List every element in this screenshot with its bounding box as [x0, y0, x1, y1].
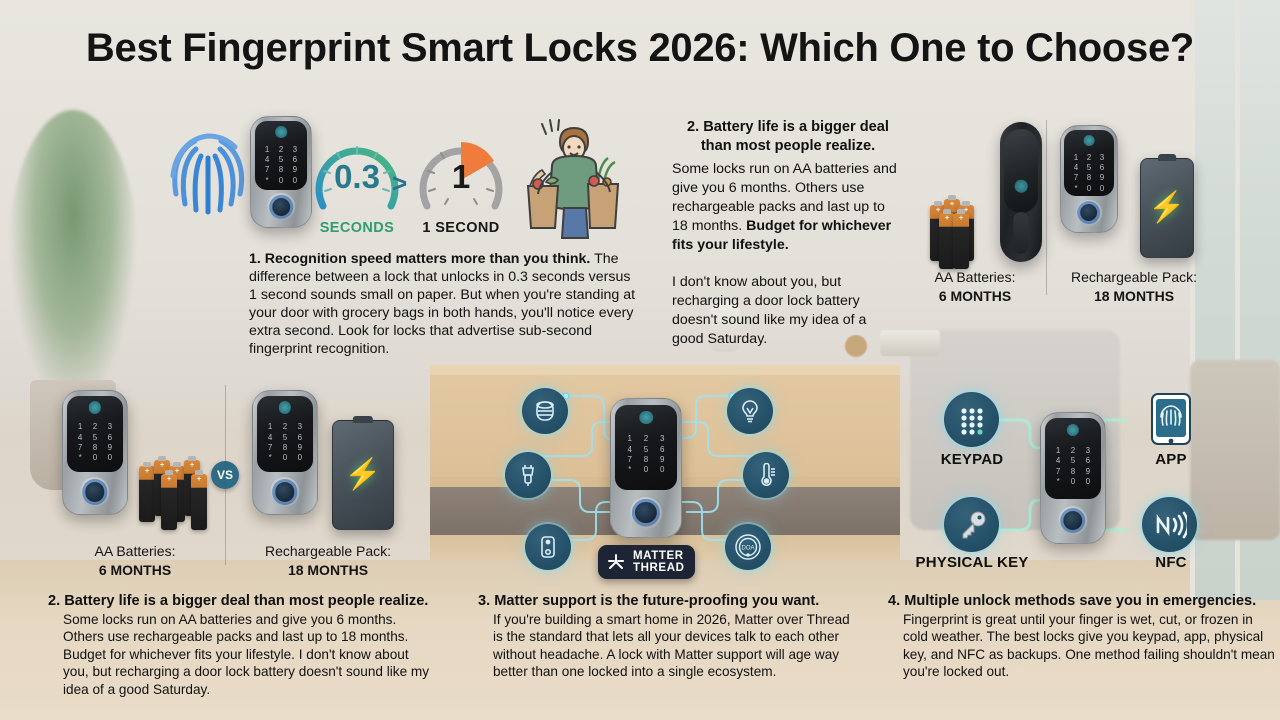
matter-badge-text: MATTER THREAD [633, 550, 685, 574]
keypad-key: 0 [278, 454, 291, 462]
keypad-key: 7 [1070, 174, 1081, 182]
keypad-key: 1 [261, 146, 273, 154]
keypad-key: 9 [289, 166, 301, 174]
keypad-key: 0 [1081, 478, 1094, 486]
keypad-key: 4 [261, 156, 273, 164]
section-3-heading: 3. Matter support is the future-proofing… [478, 592, 850, 611]
keypad-key: 4 [1070, 164, 1081, 172]
keypad-key: 5 [1083, 164, 1094, 172]
keypad-key: 0 [1096, 185, 1107, 193]
section-3-body: If you're building a smart home in 2026,… [478, 611, 850, 681]
smart-lock-device-matter: 1 2 3 4 5 6 7 8 9 * 0 0 [610, 398, 682, 538]
lock-fingerprint-sensor-top [639, 411, 653, 425]
keypad-key: 8 [88, 444, 101, 452]
lightning-bolt-icon: ⚡ [344, 460, 381, 490]
keypad-key: 0 [275, 177, 287, 185]
aa-battery-caption-bottom: AA Batteries: 6 MONTHS [62, 542, 208, 580]
smart-speaker-icon [522, 388, 568, 434]
keypad-key: 4 [74, 434, 87, 442]
keypad-key: 0 [1066, 478, 1079, 486]
section-2-top-paragraph-2: I don't know about you, but recharging a… [672, 273, 896, 349]
keypad-key: 9 [293, 444, 306, 452]
keypad-key: 6 [655, 446, 669, 454]
rechargeable-pack-top: ⚡ [1140, 158, 1194, 258]
keypad-key: 2 [278, 423, 291, 431]
speed-gauge-fast: 0.3 SECONDS [311, 134, 403, 226]
aa-batteries-group-bottom: + + + + + + [139, 458, 211, 528]
lock-screen: 1 2 3 4 5 6 7 8 9 * 0 0 [615, 405, 677, 491]
phone-app-icon [1142, 390, 1200, 448]
keypad-key: 6 [1096, 164, 1107, 172]
section-4-body: Fingerprint is great until your finger i… [888, 611, 1276, 681]
lock-slim-glass-panel [1004, 129, 1038, 213]
top-right-divider [1046, 120, 1047, 295]
motion-sensor-icon [525, 524, 571, 570]
smart-lock-device-slim [1000, 122, 1042, 262]
section-1-text: 1. Recognition speed matters more than y… [249, 250, 641, 358]
smart-plug-icon [505, 452, 551, 498]
keypad-key: 8 [278, 444, 291, 452]
speed-gauge-slow: 1 1 SECOND [415, 134, 507, 226]
keypad-key: 5 [278, 434, 291, 442]
lock-fingerprint-sensor-top [89, 401, 101, 413]
lock-keypad: 1 2 3 4 5 6 7 8 9 * 0 0 [261, 146, 301, 178]
app-label: APP [1113, 451, 1229, 468]
grocery-shopper-illustration [516, 112, 634, 240]
smart-lock-device-aa-bottom: 1 2 3 4 5 6 7 8 9 * 0 0 [62, 390, 128, 515]
smart-lock-device-unlock: 1 2 3 4 5 6 7 8 9 * 0 0 [1040, 412, 1106, 544]
page-title: Best Fingerprint Smart Locks 2026: Which… [0, 26, 1280, 71]
comparator-icon: > [392, 168, 407, 199]
lock-keypad: 1 2 3 4 5 6 7 8 9 * 0 0 [1070, 154, 1107, 186]
keypad-key: 6 [1081, 457, 1094, 465]
lock-fingerprint-knob [1076, 200, 1102, 226]
matter-badge-line1: MATTER [633, 550, 685, 562]
keypad-key: 3 [293, 423, 306, 431]
keypad-key: 6 [289, 156, 301, 164]
gauge-slow-label: 1 SECOND [415, 220, 507, 236]
lock-fingerprint-sensor-top [279, 401, 291, 413]
keypad-key: 5 [275, 156, 287, 164]
keypad-key: 7 [261, 166, 273, 174]
keypad-key: 2 [1083, 154, 1094, 162]
infographic-canvas: Best Fingerprint Smart Locks 2026: Which… [0, 0, 1280, 720]
keypad-key: 1 [623, 435, 637, 443]
lock-fingerprint-sensor-top [1067, 424, 1079, 436]
keypad-key: 3 [103, 423, 116, 431]
keypad-key: 5 [639, 446, 653, 454]
pack-caption-top: Rechargeable Pack: 18 MONTHS [1048, 268, 1220, 306]
lock-screen: 1 2 3 4 5 6 7 8 9 * 0 0 [255, 121, 308, 189]
fingerprint-icon [165, 128, 251, 220]
lock-keypad: 1 2 3 4 5 6 7 8 9 * 0 0 [264, 423, 307, 455]
section-2-top-heading: 2. Battery life is a bigger deal than mo… [672, 118, 904, 156]
section-2-top-paragraph-1: Some locks run on AA batteries and give … [672, 160, 900, 255]
keypad-key: 6 [293, 434, 306, 442]
keypad-key: 8 [1066, 468, 1079, 476]
section-4-heading: 4. Multiple unlock methods save you in e… [888, 592, 1276, 611]
keypad-key: 2 [275, 146, 287, 154]
aa-caption-line1: AA Batteries: [95, 543, 176, 559]
keypad-key: 9 [655, 456, 669, 464]
pack-caption-bottom: Rechargeable Pack: 18 MONTHS [242, 542, 414, 580]
keypad-key: 3 [1081, 447, 1094, 455]
pack-caption-line1: Rechargeable Pack: [1071, 269, 1197, 285]
matter-badge-line2: THREAD [633, 562, 685, 574]
light-bulb-icon [727, 388, 773, 434]
keypad-key: 2 [639, 435, 653, 443]
section-2-bottom-text: 2. Battery life is a bigger deal than mo… [48, 592, 438, 698]
lock-fingerprint-knob [630, 497, 662, 529]
lock-keypad: 1 2 3 4 5 6 7 8 9 * 0 0 [1052, 447, 1095, 479]
smart-dial-icon: DOA [725, 524, 771, 570]
keypad-key: * [74, 454, 87, 462]
section-4-text: 4. Multiple unlock methods save you in e… [888, 592, 1276, 681]
section-2-heading-line1: 2. Battery life is a bigger deal [687, 119, 889, 135]
keypad-key: * [1052, 478, 1065, 486]
gauge-fast-label: SECONDS [311, 220, 403, 236]
keypad-key: 1 [74, 423, 87, 431]
keypad-key: 0 [103, 454, 116, 462]
keypad-key: 3 [1096, 154, 1107, 162]
keypad-key: 4 [623, 446, 637, 454]
keypad-label: KEYPAD [914, 451, 1030, 468]
pack-caption-line1: Rechargeable Pack: [265, 543, 391, 559]
lock-screen: 1 2 3 4 5 6 7 8 9 * 0 0 [67, 396, 123, 472]
aa-batteries-group-top: + + + + + [930, 195, 1000, 265]
keypad-key: 6 [103, 434, 116, 442]
keypad-key: * [264, 454, 277, 462]
nfc-label: NFC [1113, 554, 1229, 571]
keypad-key: 1 [264, 423, 277, 431]
keypad-key: 4 [264, 434, 277, 442]
key-icon [944, 497, 999, 552]
lock-keypad: 1 2 3 4 5 6 7 8 9 * 0 0 [74, 423, 117, 455]
keypad-key: 7 [623, 456, 637, 464]
thermostat-icon [743, 452, 789, 498]
keypad-key: 2 [1066, 447, 1079, 455]
lock-fingerprint-knob [267, 193, 295, 221]
keypad-key: 0 [289, 177, 301, 185]
keypad-key: 9 [103, 444, 116, 452]
keypad-key: 8 [1083, 174, 1094, 182]
smart-lock-device-pack-bottom: 1 2 3 4 5 6 7 8 9 * 0 0 [252, 390, 318, 515]
smart-lock-device-primary: 1 2 3 4 5 6 7 8 9 * 0 0 [250, 116, 312, 228]
keypad-key: * [261, 177, 273, 185]
section-2-bottom-heading: 2. Battery life is a bigger deal than mo… [48, 592, 438, 611]
matter-thread-badge: MATTER THREAD [598, 545, 695, 579]
potted-plant-foliage [8, 110, 138, 410]
keypad-key: 1 [1052, 447, 1065, 455]
section-2-bottom-body: Some locks run on AA batteries and give … [48, 611, 438, 698]
gauge-slow-value: 1 [415, 158, 507, 196]
keypad-key: 8 [639, 456, 653, 464]
pack-caption-line2: 18 MONTHS [288, 562, 368, 578]
gauge-fast-value: 0.3 [311, 158, 403, 196]
keypad-key: 9 [1096, 174, 1107, 182]
section-1-heading: Recognition speed matters more than you … [265, 251, 591, 267]
keypad-key: 5 [1066, 457, 1079, 465]
keypad-key: 4 [1052, 457, 1065, 465]
lock-slim-fingerprint-sensor [1015, 180, 1028, 193]
aa-caption-line1: AA Batteries: [935, 269, 1016, 285]
smart-lock-device-keypad-top: 1 2 3 4 5 6 7 8 9 * 0 0 [1060, 125, 1118, 233]
keypad-key: 2 [88, 423, 101, 431]
keypad-key: 0 [655, 466, 669, 474]
aa-caption-line2: 6 MONTHS [939, 288, 1011, 304]
section-3-text: 3. Matter support is the future-proofing… [478, 592, 850, 681]
dial-text: DOA [741, 546, 754, 552]
lock-fingerprint-sensor-top [275, 126, 287, 138]
section-2-heading-line2: than most people realize. [701, 138, 875, 154]
lock-screen: 1 2 3 4 5 6 7 8 9 * 0 0 [1064, 130, 1113, 196]
bottom-left-divider [225, 385, 226, 565]
lock-fingerprint-knob [1058, 506, 1087, 535]
keypad-key: 5 [88, 434, 101, 442]
pack-caption-line2: 18 MONTHS [1094, 288, 1174, 304]
keypad-key: 0 [639, 466, 653, 474]
lock-screen: 1 2 3 4 5 6 7 8 9 * 0 0 [1045, 418, 1101, 499]
rechargeable-pack-bottom: ⚡ [332, 420, 394, 530]
keypad-key: 3 [289, 146, 301, 154]
matter-logo-icon [606, 552, 626, 572]
lock-screen: 1 2 3 4 5 6 7 8 9 * 0 0 [257, 396, 313, 472]
keypad-key: 3 [655, 435, 669, 443]
keypad-icon [944, 392, 999, 447]
section-1-number: 1. [249, 251, 261, 267]
lock-fingerprint-knob [270, 477, 299, 506]
keypad-key: * [623, 466, 637, 474]
keypad-key: 1 [1070, 154, 1081, 162]
lock-keypad: 1 2 3 4 5 6 7 8 9 * 0 0 [623, 435, 670, 467]
lock-fingerprint-sensor-top [1084, 135, 1095, 146]
lightning-bolt-icon: ⚡ [1148, 193, 1185, 223]
keypad-key: 0 [1083, 185, 1094, 193]
armchair-background [1190, 360, 1280, 540]
lock-slim-grip [1013, 212, 1028, 254]
aa-caption-line2: 6 MONTHS [99, 562, 171, 578]
lock-fingerprint-knob [80, 477, 109, 506]
keypad-key: 9 [1081, 468, 1094, 476]
aa-battery-caption-top: AA Batteries: 6 MONTHS [905, 268, 1045, 306]
nfc-icon [1142, 497, 1197, 552]
keypad-key: * [1070, 185, 1081, 193]
keypad-key: 7 [264, 444, 277, 452]
keypad-key: 7 [1052, 468, 1065, 476]
keypad-key: 0 [293, 454, 306, 462]
keypad-key: 0 [88, 454, 101, 462]
keypad-key: 8 [275, 166, 287, 174]
physical-key-label: PHYSICAL KEY [898, 554, 1046, 571]
keypad-key: 7 [74, 444, 87, 452]
